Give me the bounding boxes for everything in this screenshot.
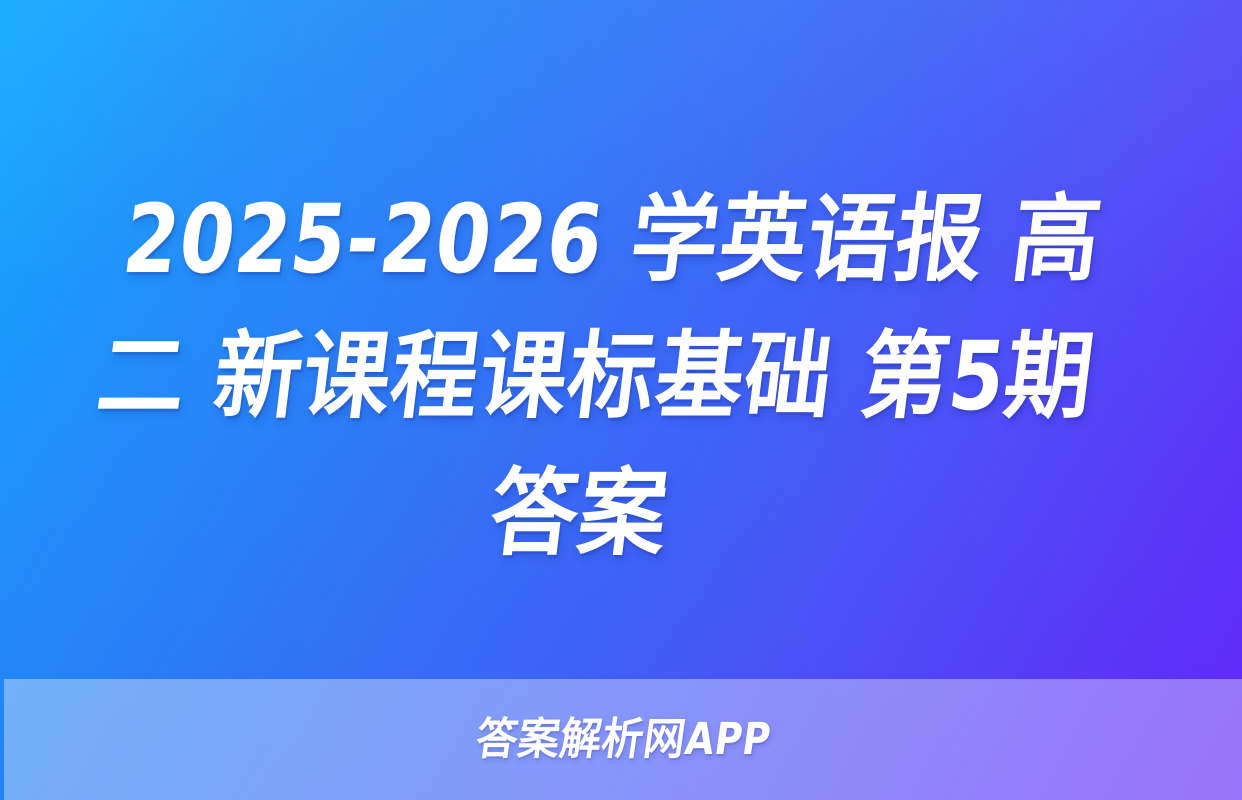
page-title: 2025-2026 学英语报 高二 新课程课标基础 第5期答案 [65,172,1127,583]
answer-banner: 2025-2026 学英语报 高二 新课程课标基础 第5期答案 答案解析网APP [0,0,1242,800]
headline-container: 2025-2026 学英语报 高二 新课程课标基础 第5期答案 [0,172,1242,583]
app-watermark-label: 答案解析网APP [473,718,773,762]
app-watermark-bar[interactable]: 答案解析网APP [4,679,1242,800]
